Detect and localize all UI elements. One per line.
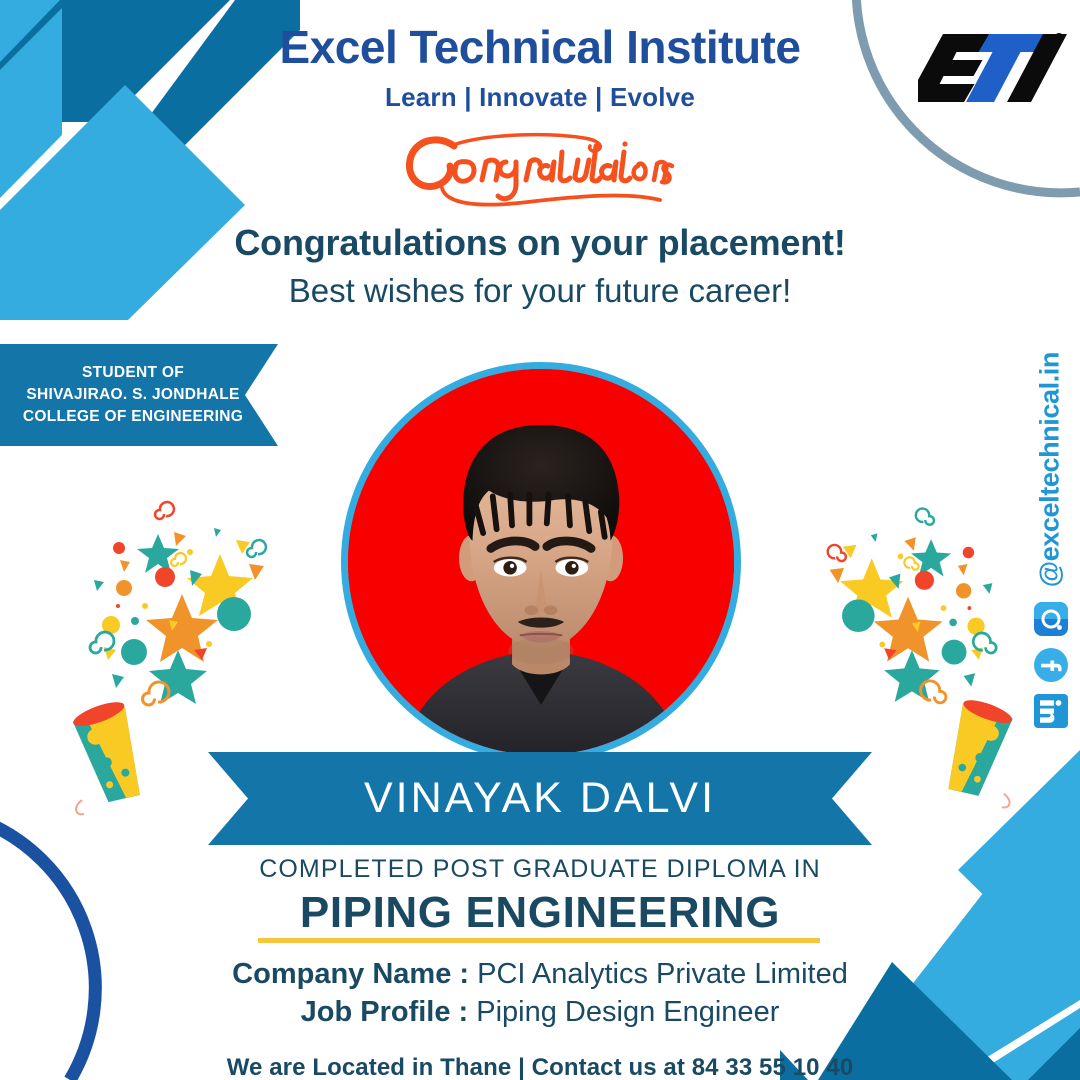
qualification-block: COMPLETED POST GRADUATE DIPLOMA IN PIPIN… (0, 855, 1080, 938)
facebook-icon[interactable] (1034, 648, 1068, 682)
placement-details: Company Name : PCI Analytics Private Lim… (0, 955, 1080, 1080)
student-name-banner: VINAYAK DALVI (208, 752, 872, 845)
confetti-decoration-right (798, 492, 1023, 817)
header: Excel Technical Institute Learn | Innova… (0, 22, 1080, 113)
placement-congratulations-poster: Excel Technical Institute Learn | Innova… (0, 0, 1080, 1080)
social-handle-text: @exceltechnical.in (1035, 352, 1066, 587)
company-label: Company Name : (232, 958, 469, 990)
contact-info: We are Located in Thane | Contact us at … (0, 1054, 1080, 1080)
social-sidebar: @exceltechnical.in (1022, 352, 1078, 752)
company-row: Company Name : PCI Analytics Private Lim… (0, 955, 1080, 993)
institute-tagline: Learn | Innovate | Evolve (0, 82, 1080, 113)
job-profile-value: Piping Design Engineer (476, 996, 779, 1028)
student-photo (341, 362, 741, 762)
job-profile-row: Job Profile : Piping Design Engineer (0, 993, 1080, 1031)
instagram-icon[interactable] (1034, 602, 1068, 636)
qualification-prefix: COMPLETED POST GRADUATE DIPLOMA IN (0, 855, 1080, 884)
job-profile-label: Job Profile : (301, 996, 469, 1028)
student-portrait-illustration (348, 369, 734, 755)
college-ribbon-text: STUDENT OF SHIVAJIRAO. S. JONDHALE COLLE… (23, 362, 255, 428)
qualification-course: PIPING ENGINEERING (0, 888, 1080, 938)
congratulation-message: Congratulations on your placement! Best … (0, 222, 1080, 310)
college-ribbon: STUDENT OF SHIVAJIRAO. S. JONDHALE COLLE… (0, 344, 278, 446)
student-name-text: VINAYAK DALVI (364, 774, 716, 823)
institute-title: Excel Technical Institute (0, 22, 1080, 74)
gold-divider (258, 938, 820, 943)
company-value: PCI Analytics Private Limited (477, 958, 848, 990)
linkedin-icon[interactable] (1034, 694, 1068, 728)
message-line-1: Congratulations on your placement! (0, 222, 1080, 264)
message-line-2: Best wishes for your future career! (0, 272, 1080, 310)
confetti-decoration-left (62, 492, 297, 817)
